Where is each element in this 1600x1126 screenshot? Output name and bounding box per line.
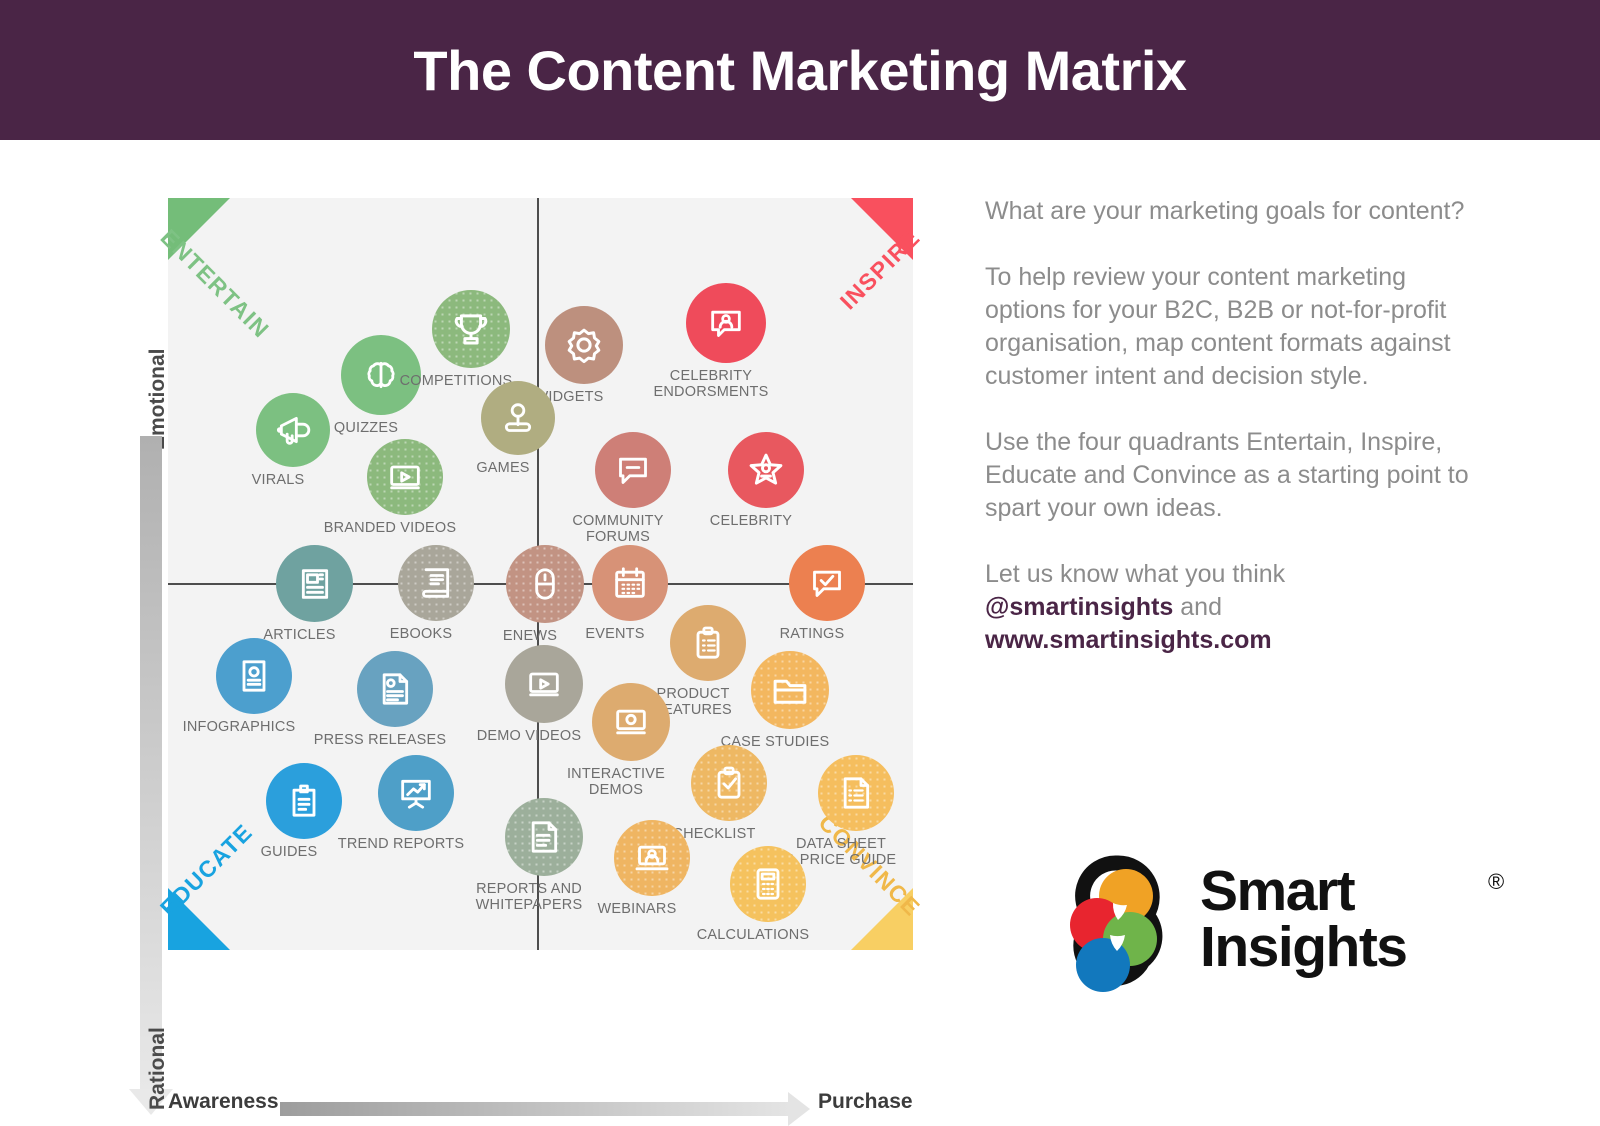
content-node-label: CELEBRITY — [683, 513, 819, 529]
content-node[interactable]: PRODUCT FEATURES — [670, 605, 746, 718]
horizontal-axis-arrow — [280, 1102, 790, 1116]
book-icon[interactable] — [398, 545, 474, 621]
content-node[interactable]: REPORTS AND WHITEPAPERS — [505, 798, 583, 913]
contact-lead: Let us know what you think — [985, 560, 1285, 588]
page-title: The Content Marketing Matrix — [413, 38, 1186, 103]
portrait-chat-icon[interactable] — [686, 283, 766, 363]
contact-and: and — [1173, 593, 1222, 621]
report-icon[interactable] — [505, 798, 583, 876]
content-node-label: PRESS RELEASES — [312, 732, 448, 748]
infographic-icon[interactable] — [216, 638, 292, 714]
joystick-icon[interactable] — [481, 381, 555, 455]
horizontal-axis-arrowhead — [788, 1092, 810, 1126]
page-header: The Content Marketing Matrix — [0, 0, 1600, 140]
content-node-label: DEMO VIDEOS — [460, 728, 598, 744]
trophy-icon[interactable] — [432, 290, 510, 368]
video-icon[interactable] — [505, 645, 583, 723]
panel-paragraph-review: To help review your content marketing op… — [985, 261, 1485, 393]
star-person-icon[interactable] — [728, 432, 804, 508]
content-node[interactable]: CASE STUDIES — [751, 651, 829, 750]
content-node[interactable]: CELEBRITY ENDORSMENTS — [686, 283, 766, 400]
content-node-label: WEBINARS — [569, 901, 705, 917]
calendar-icon[interactable] — [592, 545, 668, 621]
check-chat-icon[interactable] — [789, 545, 865, 621]
speech-icon[interactable] — [595, 432, 671, 508]
axis-label-rational: Rational — [146, 1027, 170, 1110]
content-node-label: VIRALS — [211, 472, 345, 488]
content-node[interactable]: TREND REPORTS — [378, 755, 454, 852]
content-node-label: BRANDED VIDEOS — [322, 520, 458, 536]
content-node[interactable]: COMPETITIONS — [432, 290, 510, 389]
guide-icon[interactable] — [266, 763, 342, 839]
screen-dot-icon[interactable] — [592, 683, 670, 761]
content-node[interactable]: COMMUNITY FORUMS — [595, 432, 671, 545]
smart-insights-logo: Smart Insights ® — [1055, 855, 1395, 1005]
twitter-handle[interactable]: @smartinsights — [985, 593, 1173, 621]
chart-board-icon[interactable] — [378, 755, 454, 831]
clipboard-list-icon[interactable] — [670, 605, 746, 681]
content-node[interactable]: EVENTS — [592, 545, 668, 642]
content-node[interactable]: WEBINARS — [614, 820, 690, 917]
axis-label-purchase: Purchase — [818, 1090, 913, 1114]
article-icon[interactable] — [276, 545, 353, 622]
gear-icon[interactable] — [545, 306, 623, 384]
press-doc-icon[interactable] — [357, 651, 433, 727]
axis-label-awareness: Awareness — [168, 1090, 279, 1114]
website-url[interactable]: www.smartinsights.com — [985, 626, 1272, 654]
webinar-icon[interactable] — [614, 820, 690, 896]
folder-icon[interactable] — [751, 651, 829, 729]
matrix-section: Emotional Rational Awareness Purchase EN… — [0, 140, 960, 1100]
video-icon[interactable] — [367, 439, 443, 515]
content-node-label: TREND REPORTS — [333, 836, 469, 852]
smart-insights-mark-icon — [1055, 855, 1195, 1005]
panel-paragraph-quadrants: Use the four quadrants Entertain, Inspir… — [985, 426, 1485, 525]
datasheet-icon[interactable] — [818, 755, 894, 831]
content-node[interactable]: CHECKLIST — [691, 745, 767, 842]
content-node[interactable]: CELEBRITY — [728, 432, 804, 529]
content-node[interactable]: DEMO VIDEOS — [505, 645, 583, 744]
matrix-plot: ENTERTAIN INSPIRE EDUCATE CONVINCE VIRAL… — [168, 198, 913, 950]
content-node-label: RATINGS — [744, 626, 880, 642]
calculator-icon[interactable] — [730, 846, 806, 922]
logo-wordmark: Smart Insights ® — [1200, 863, 1407, 975]
content-node-label: GAMES — [436, 460, 570, 476]
content-node-label: QUIZZES — [296, 420, 436, 436]
logo-line-insights: Insights — [1200, 919, 1407, 975]
vertical-axis-arrow — [140, 436, 162, 1091]
panel-paragraph-contact: Let us know what you think @smartinsight… — [985, 558, 1485, 657]
axis-label-emotional: Emotional — [146, 348, 170, 450]
content-node[interactable]: WIDGETS — [545, 306, 623, 405]
content-node[interactable]: GUIDES — [266, 763, 342, 860]
content-node-label: INTERACTIVE DEMOS — [547, 766, 685, 798]
content-node[interactable]: GAMES — [481, 381, 555, 476]
clipboard-check-icon[interactable] — [691, 745, 767, 821]
content-node-label: COMMUNITY FORUMS — [550, 513, 686, 545]
content-node-label: CELEBRITY ENDORSMENTS — [641, 368, 781, 400]
registered-trademark-icon: ® — [1488, 869, 1504, 895]
logo-line-smart: Smart — [1200, 863, 1407, 919]
content-node[interactable]: DATA SHEET & PRICE GUIDE — [818, 755, 894, 868]
content-node[interactable]: RATINGS — [789, 545, 865, 642]
content-node[interactable]: ARTICLES — [276, 545, 353, 643]
info-panel: What are your marketing goals for conten… — [985, 195, 1485, 657]
content-node-label: EVENTS — [547, 626, 683, 642]
content-node[interactable]: BRANDED VIDEOS — [367, 439, 443, 536]
content-node[interactable]: PRESS RELEASES — [357, 651, 433, 748]
content-node[interactable]: INTERACTIVE DEMOS — [592, 683, 670, 798]
mouse-icon[interactable] — [506, 545, 584, 623]
content-node-label: INFOGRAPHICS — [171, 719, 307, 735]
content-node[interactable]: CALCULATIONS — [730, 846, 806, 943]
content-node[interactable]: VIRALS — [256, 393, 330, 488]
panel-paragraph-goals: What are your marketing goals for conten… — [985, 195, 1485, 228]
content-node-label: CALCULATIONS — [685, 927, 821, 943]
content-node[interactable]: INFOGRAPHICS — [216, 638, 292, 735]
